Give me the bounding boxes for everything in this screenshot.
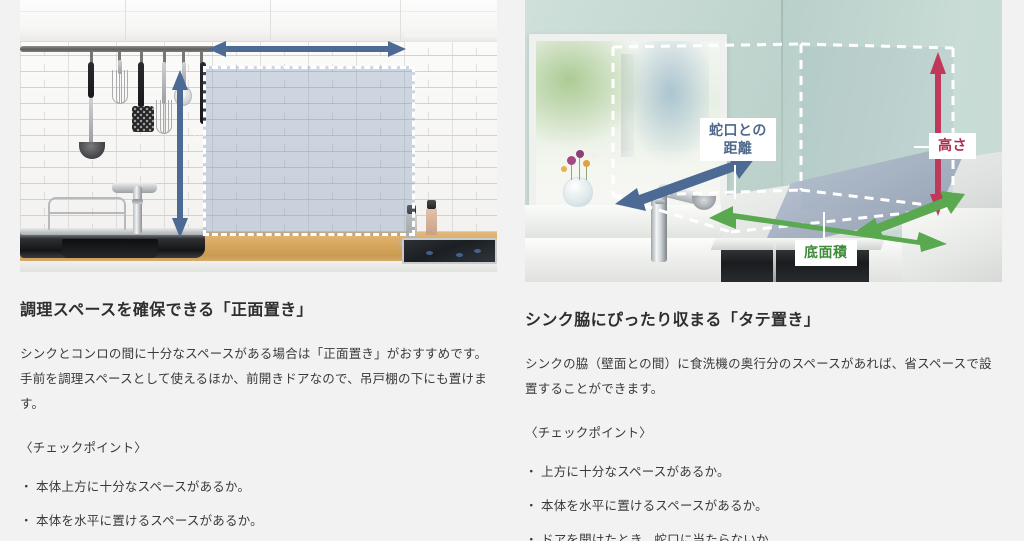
area-label-leader [823,212,825,242]
faucet-label-leader [734,165,736,199]
column-front-placement: 調理スペースを確保できる「正面置き」 シンクとコンロの間に十分なスペースがある場… [0,0,512,541]
list-item-label: 本体を水平に置けるスペースがあるか。 [36,514,263,528]
list-item: ・ 上方に十分なスペースがあるか。 [525,455,1002,489]
faucet-distance-label: 蛇口との 距離 [700,118,776,161]
description-front: シンクとコンロの間に十分なスペースがある場合は「正面置き」がおすすめです。手前を… [20,342,497,417]
floor-area-label: 底面積 [795,240,857,266]
height-label: 高さ [929,133,976,159]
whisk-icon [110,70,130,104]
appliance-footprint-rectangle [203,66,415,236]
checkpoint-title-front: 〈チェックポイント〉 [20,437,497,456]
width-double-arrow [208,41,406,57]
whisk-icon-2 [154,100,174,134]
two-column-layout: 調理スペースを確保できる「正面置き」 シンクとコンロの間に十分なスペースがある場… [0,0,1024,541]
checkpoint-list-front: ・ 本体上方に十分なスペースがあるか。 ・ 本体を水平に置けるスペースがあるか。 [20,470,497,538]
spatula-icon [132,106,154,132]
ladle-stem [89,98,93,144]
checkpoint-list-side: ・ 上方に十分なスペースがあるか。 ・ 本体を水平に置けるスペースがあるか。 ・… [525,455,1002,541]
list-item: ・ 本体を水平に置けるスペースがあるか。 [525,489,1002,523]
sink-side-placement-render: 蛇口との 距離 高さ 底面積 [525,0,1002,282]
kitchen-front-placement-photo [20,0,497,272]
bullet-icon: ・ [525,496,538,516]
ladle-handle [88,62,94,98]
description-side: シンクの脇（壁面との間）に食洗機の奥行分のスペースがあれば、省スペースで設置する… [525,352,1002,402]
list-item: ・ ドアを開けたとき、蛇口に当たらないか。 [525,523,1002,541]
bullet-icon: ・ [525,462,538,482]
list-item-label: ドアを開けたとき、蛇口に当たらないか。 [541,533,781,541]
page-root: 調理スペースを確保できる「正面置き」 シンクとコンロの間に十分なスペースがある場… [0,0,1024,541]
page-title-front: 調理スペースを確保できる「正面置き」 [20,296,497,320]
list-item-label: 本体上方に十分なスペースがあるか。 [36,480,250,494]
checkpoint-title-side: 〈チェックポイント〉 [525,422,1002,441]
bullet-icon: ・ [525,530,538,541]
list-item-label: 上方に十分なスペースがあるか。 [541,465,730,479]
bullet-icon: ・ [20,477,33,497]
bullet-icon: ・ [20,511,33,531]
whisk-handle [162,62,166,104]
depth-double-arrow [855,190,965,236]
spatula-handle [138,62,144,108]
render-scene: 蛇口との 距離 高さ 底面積 [525,0,1002,282]
faucet-neck [133,186,142,234]
list-item: ・ 本体を水平に置けるスペースがあるか。 [20,504,497,538]
height-double-arrow [172,70,188,238]
list-item: ・ 本体上方に十分なスペースがあるか。 [20,470,497,504]
ih-cooktop [402,238,497,264]
list-item-label: 本体を水平に置けるスペースがあるか。 [541,499,768,513]
column-side-placement: 蛇口との 距離 高さ 底面積 シンク脇にぴったり収まる「タテ置き」 シンクの脇（… [512,0,1024,541]
page-title-side: シンク脇にぴったり収まる「タテ置き」 [525,306,1002,330]
kitchen-photo-scene [20,0,497,272]
height-label-leader [914,146,930,148]
